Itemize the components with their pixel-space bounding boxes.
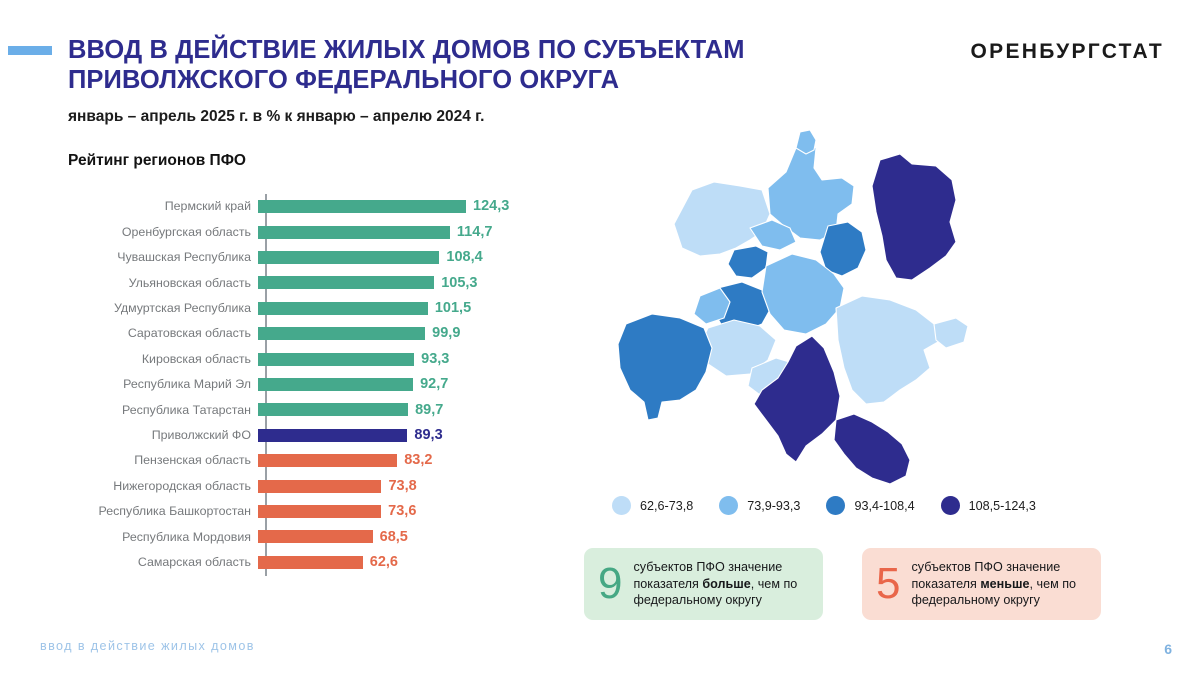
bar[interactable] <box>258 327 425 340</box>
legend-color-swatch <box>719 496 738 515</box>
legend-item[interactable]: 108,5-124,3 <box>941 496 1036 515</box>
map-region-kirovskaya-spur[interactable] <box>796 130 816 154</box>
bar[interactable] <box>258 378 413 391</box>
summary-above-emphasis: больше <box>702 577 750 591</box>
bar-track: 124,3 <box>258 194 580 219</box>
bar-row: Республика Башкортостан73,6 <box>60 499 580 524</box>
bar[interactable] <box>258 556 363 569</box>
bar-row: Республика Мордовия68,5 <box>60 524 580 549</box>
summary-card-above-text: субъектов ПФО значение показателя больше… <box>633 559 811 609</box>
bar-value-label: 101,5 <box>435 301 471 316</box>
bar-value-label: 89,3 <box>414 428 442 443</box>
summary-card-above-district: 9 субъектов ПФО значение показателя боль… <box>584 548 823 620</box>
bar-row: Нижегородская область73,8 <box>60 473 580 498</box>
legend-color-swatch <box>941 496 960 515</box>
bar-row: Пермский край124,3 <box>60 194 580 219</box>
bar-category-label: Оренбургская область <box>60 226 258 238</box>
bar-category-label: Республика Татарстан <box>60 404 258 416</box>
bar-track: 73,6 <box>258 499 580 524</box>
bar[interactable] <box>258 505 381 518</box>
bar-track: 89,7 <box>258 397 580 422</box>
bar-chart: Пермский край124,3Оренбургская область11… <box>60 194 580 576</box>
bar-category-label: Удмуртская Республика <box>60 302 258 314</box>
legend-item[interactable]: 93,4-108,4 <box>826 496 914 515</box>
bar[interactable] <box>258 530 373 543</box>
bar-track: 101,5 <box>258 296 580 321</box>
bar-track: 83,2 <box>258 448 580 473</box>
summary-below-emphasis: меньше <box>980 577 1029 591</box>
bar-track: 93,3 <box>258 346 580 371</box>
bar-value-label: 93,3 <box>421 352 449 367</box>
bar[interactable] <box>258 454 397 467</box>
bar-value-label: 73,8 <box>388 479 416 494</box>
bar[interactable] <box>258 276 434 289</box>
bar[interactable] <box>258 251 439 264</box>
map-region-saratovskaya[interactable] <box>618 314 712 420</box>
bar-value-label: 114,7 <box>457 225 493 240</box>
bar-category-label: Пензенская область <box>60 454 258 466</box>
page-title: ВВОД В ДЕЙСТВИЕ ЖИЛЫХ ДОМОВ ПО СУБЪЕКТАМ… <box>68 36 858 95</box>
bar-row: Республика Татарстан89,7 <box>60 397 580 422</box>
bar-row: Ульяновская область105,3 <box>60 270 580 295</box>
bar-row: Кировская область93,3 <box>60 346 580 371</box>
chart-heading: Рейтинг регионов ПФО <box>68 152 246 170</box>
legend-range-label: 73,9-93,3 <box>747 499 800 513</box>
legend-color-swatch <box>612 496 631 515</box>
legend-range-label: 108,5-124,3 <box>969 499 1036 513</box>
bar-value-label: 89,7 <box>415 403 443 418</box>
bar-value-label: 105,3 <box>441 276 477 291</box>
map-region-mariy-el[interactable] <box>728 246 768 278</box>
bar-row: Республика Марий Эл92,7 <box>60 372 580 397</box>
choropleth-map <box>600 128 1200 488</box>
summary-card-below-number: 5 <box>876 562 900 606</box>
bar-track: 92,7 <box>258 372 580 397</box>
bar-row: Удмуртская Республика101,5 <box>60 296 580 321</box>
bar-value-label: 99,9 <box>432 326 460 341</box>
bar-row: Самарская область62,6 <box>60 550 580 575</box>
bar-row: Приволжский ФО89,3 <box>60 423 580 448</box>
bar-category-label: Республика Марий Эл <box>60 378 258 390</box>
footer-caption: ввод в действие жилых домов <box>40 639 255 653</box>
summary-card-above-number: 9 <box>598 562 622 606</box>
bar[interactable] <box>258 480 381 493</box>
map-region-orenburgskaya[interactable] <box>834 414 910 484</box>
bar-category-label: Республика Башкортостан <box>60 505 258 517</box>
bar-value-label: 92,7 <box>420 377 448 392</box>
map-region-bashkortostan-east[interactable] <box>934 318 968 348</box>
bar-value-label: 83,2 <box>404 453 432 468</box>
summary-card-below-district: 5 субъектов ПФО значение показателя мень… <box>862 548 1101 620</box>
legend-range-label: 93,4-108,4 <box>854 499 914 513</box>
bar-value-label: 73,6 <box>388 504 416 519</box>
bar-track: 99,9 <box>258 321 580 346</box>
bar-track: 73,8 <box>258 473 580 498</box>
bar-track: 89,3 <box>258 423 580 448</box>
bar-value-label: 124,3 <box>473 199 509 214</box>
bar-row: Оренбургская область114,7 <box>60 219 580 244</box>
bar-category-label: Приволжский ФО <box>60 429 258 441</box>
bar-track: 105,3 <box>258 270 580 295</box>
slide-canvas: ВВОД В ДЕЙСТВИЕ ЖИЛЫХ ДОМОВ ПО СУБЪЕКТАМ… <box>0 0 1200 675</box>
bar-track: 68,5 <box>258 524 580 549</box>
bar[interactable] <box>258 226 450 239</box>
bar[interactable] <box>258 353 414 366</box>
legend-item[interactable]: 62,6-73,8 <box>612 496 693 515</box>
bar-track: 62,6 <box>258 550 580 575</box>
bar-value-label: 62,6 <box>370 555 398 570</box>
map-region-permskiy[interactable] <box>872 154 956 280</box>
bar-category-label: Самарская область <box>60 556 258 568</box>
map-region-bashkortostan[interactable] <box>836 296 938 404</box>
bar-track: 114,7 <box>258 219 580 244</box>
bar-row: Пензенская область83,2 <box>60 448 580 473</box>
page-number: 6 <box>1164 641 1172 657</box>
legend-range-label: 62,6-73,8 <box>640 499 693 513</box>
map-legend: 62,6-73,873,9-93,393,4-108,4108,5-124,3 <box>612 496 1132 515</box>
summary-card-below-text: субъектов ПФО значение показателя меньше… <box>911 559 1089 609</box>
bar-row: Саратовская область99,9 <box>60 321 580 346</box>
map-region-nizhegorodskaya[interactable] <box>674 182 770 256</box>
page-subtitle: январь – апрель 2025 г. в % к январю – а… <box>68 108 768 126</box>
bar-category-label: Нижегородская область <box>60 480 258 492</box>
bar[interactable] <box>258 429 407 442</box>
bar-row: Чувашская Республика108,4 <box>60 245 580 270</box>
bar-category-label: Саратовская область <box>60 327 258 339</box>
bar[interactable] <box>258 403 408 416</box>
bar-category-label: Чувашская Республика <box>60 251 258 263</box>
bar-category-label: Пермский край <box>60 200 258 212</box>
bar-category-label: Кировская область <box>60 353 258 365</box>
bar[interactable] <box>258 302 428 315</box>
title-accent-bar <box>8 46 52 55</box>
bar-value-label: 68,5 <box>380 530 408 545</box>
legend-color-swatch <box>826 496 845 515</box>
bar-category-label: Ульяновская область <box>60 277 258 289</box>
legend-item[interactable]: 73,9-93,3 <box>719 496 800 515</box>
brand-logo-orenburgstat: ОРЕНБУРГСТАТ <box>971 40 1164 64</box>
bar-value-label: 108,4 <box>446 250 482 265</box>
bar-category-label: Республика Мордовия <box>60 531 258 543</box>
bar[interactable] <box>258 200 466 213</box>
bar-track: 108,4 <box>258 245 580 270</box>
